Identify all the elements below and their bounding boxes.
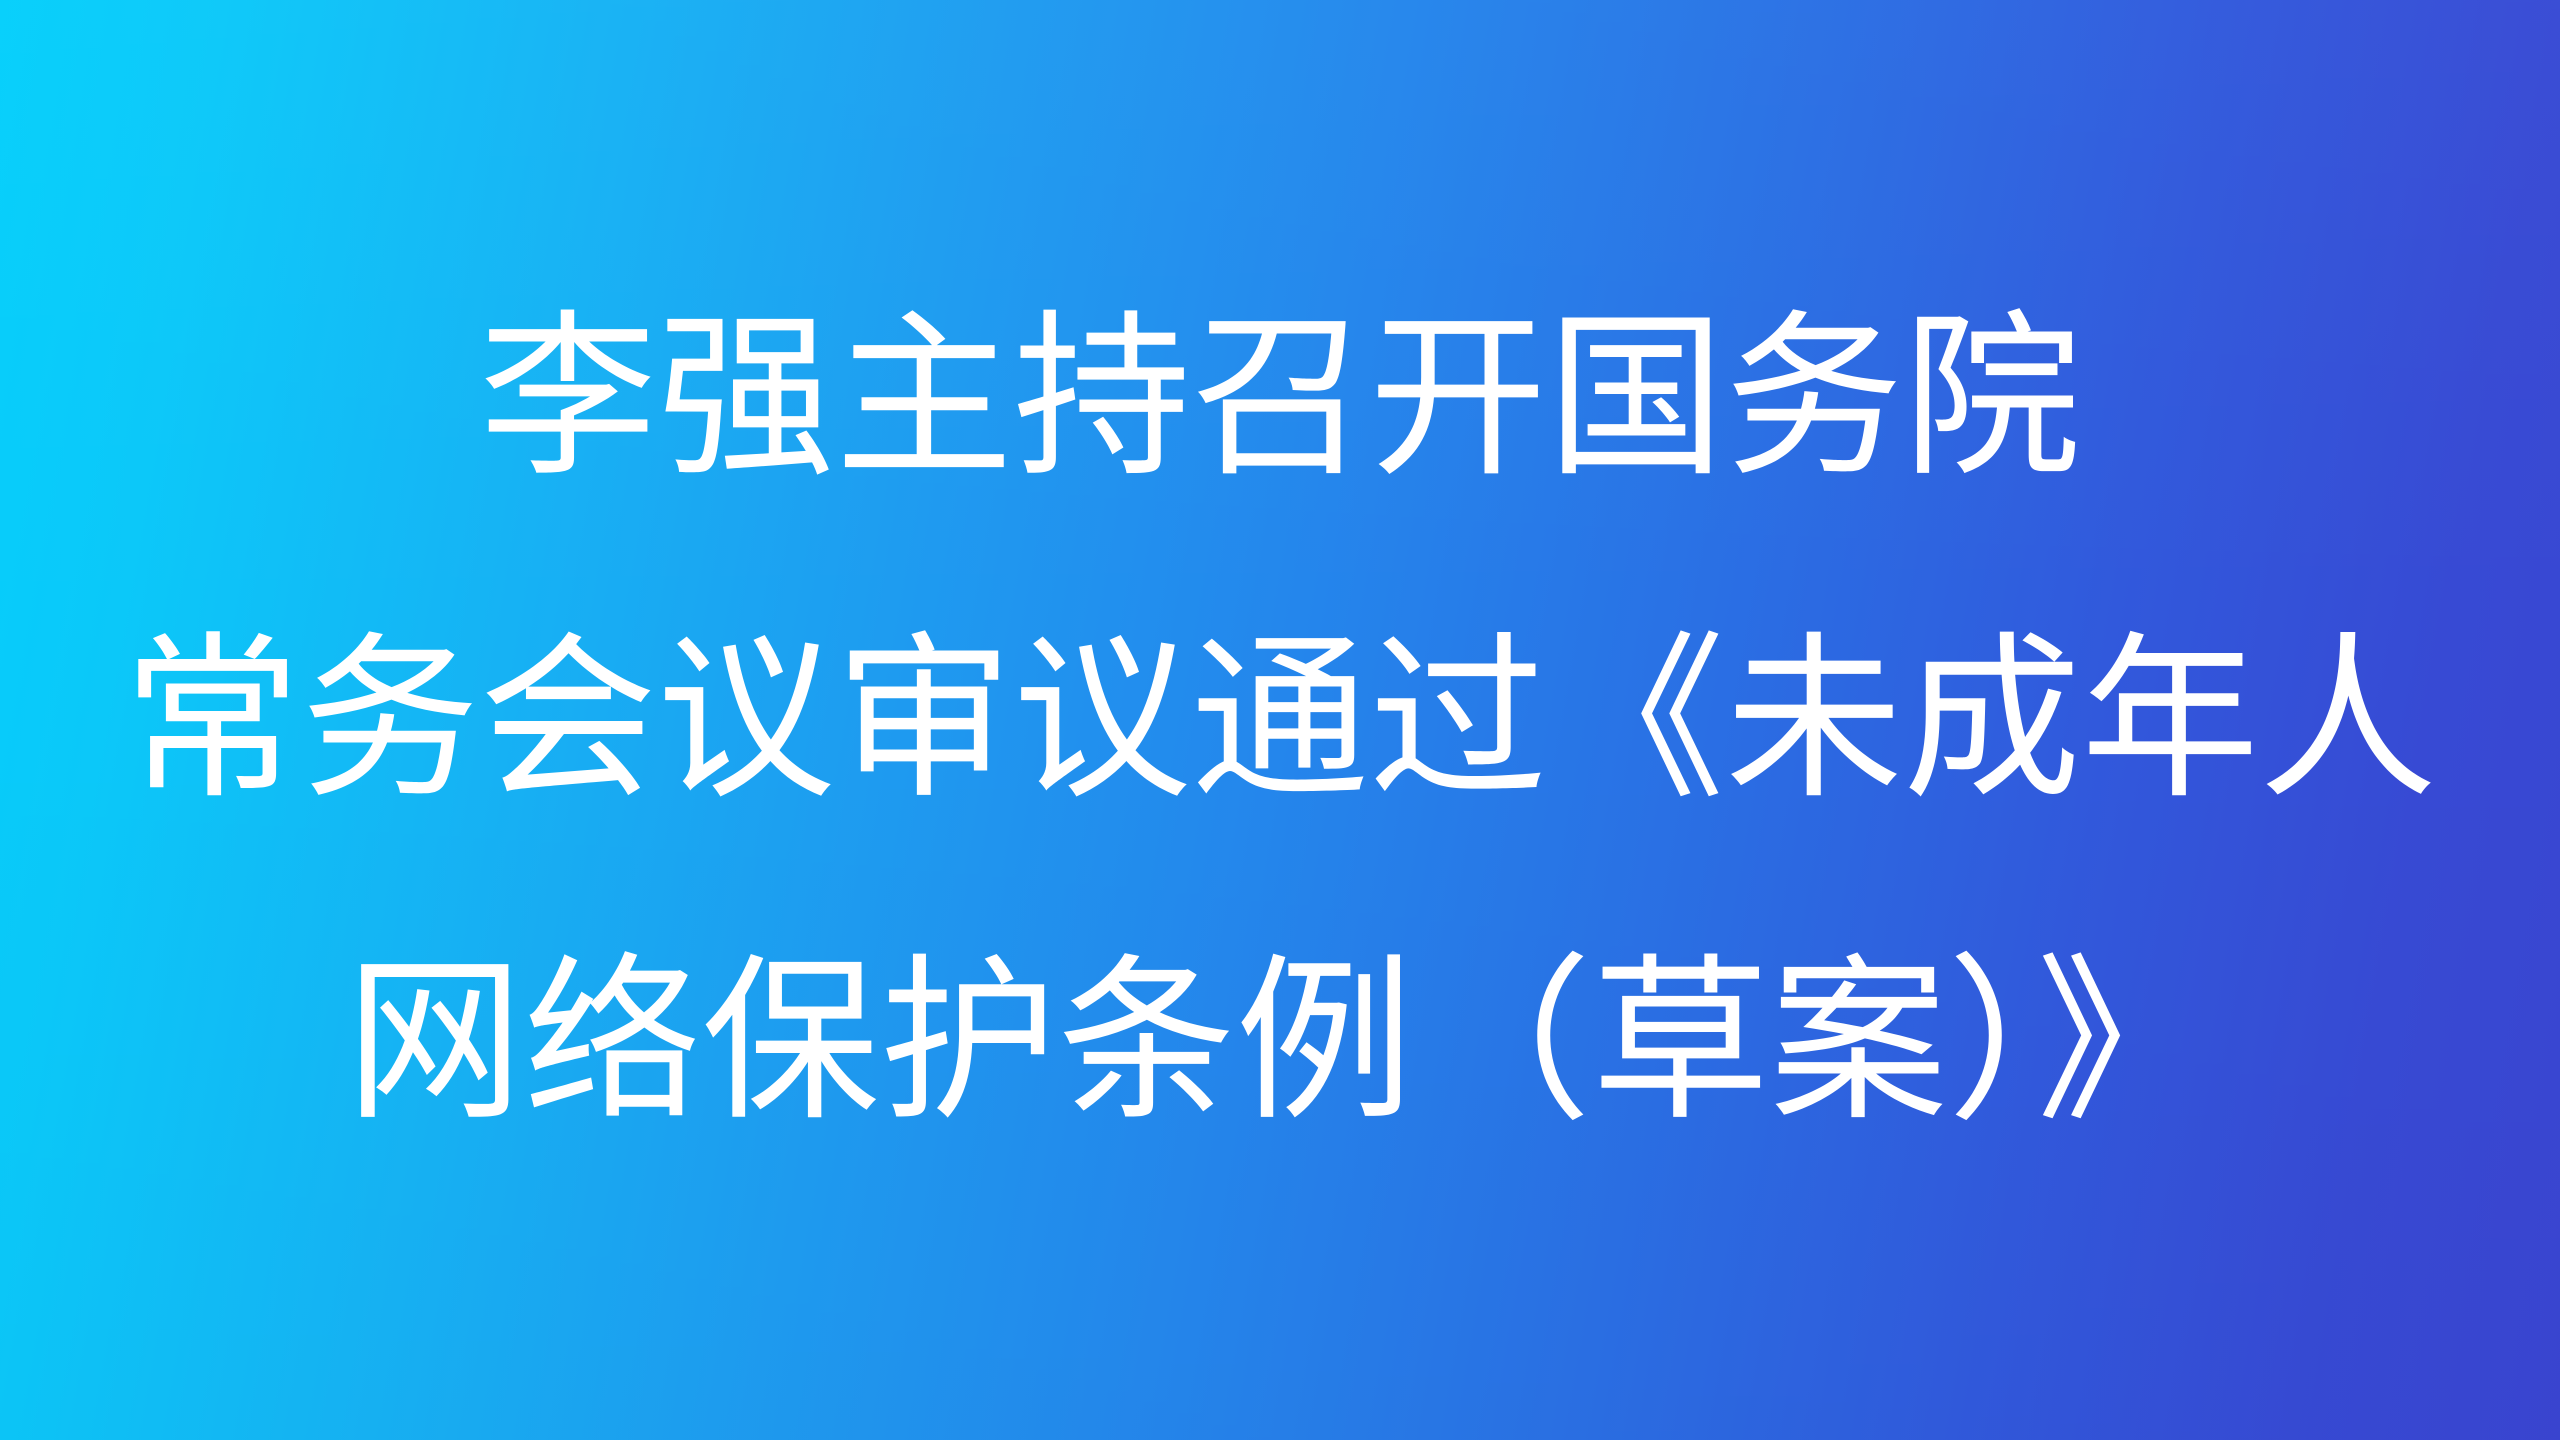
- headline-line-3: 网络保护条例（草案）》: [70, 881, 2490, 1203]
- headline-line-1: 李强主持召开国务院: [70, 237, 2490, 559]
- headline-line-2: 常务会议审议通过《未成年人: [70, 559, 2490, 881]
- title-card: 李强主持召开国务院 常务会议审议通过《未成年人 网络保护条例（草案）》: [0, 0, 2560, 1440]
- headline-text: 李强主持召开国务院 常务会议审议通过《未成年人 网络保护条例（草案）》: [70, 237, 2490, 1203]
